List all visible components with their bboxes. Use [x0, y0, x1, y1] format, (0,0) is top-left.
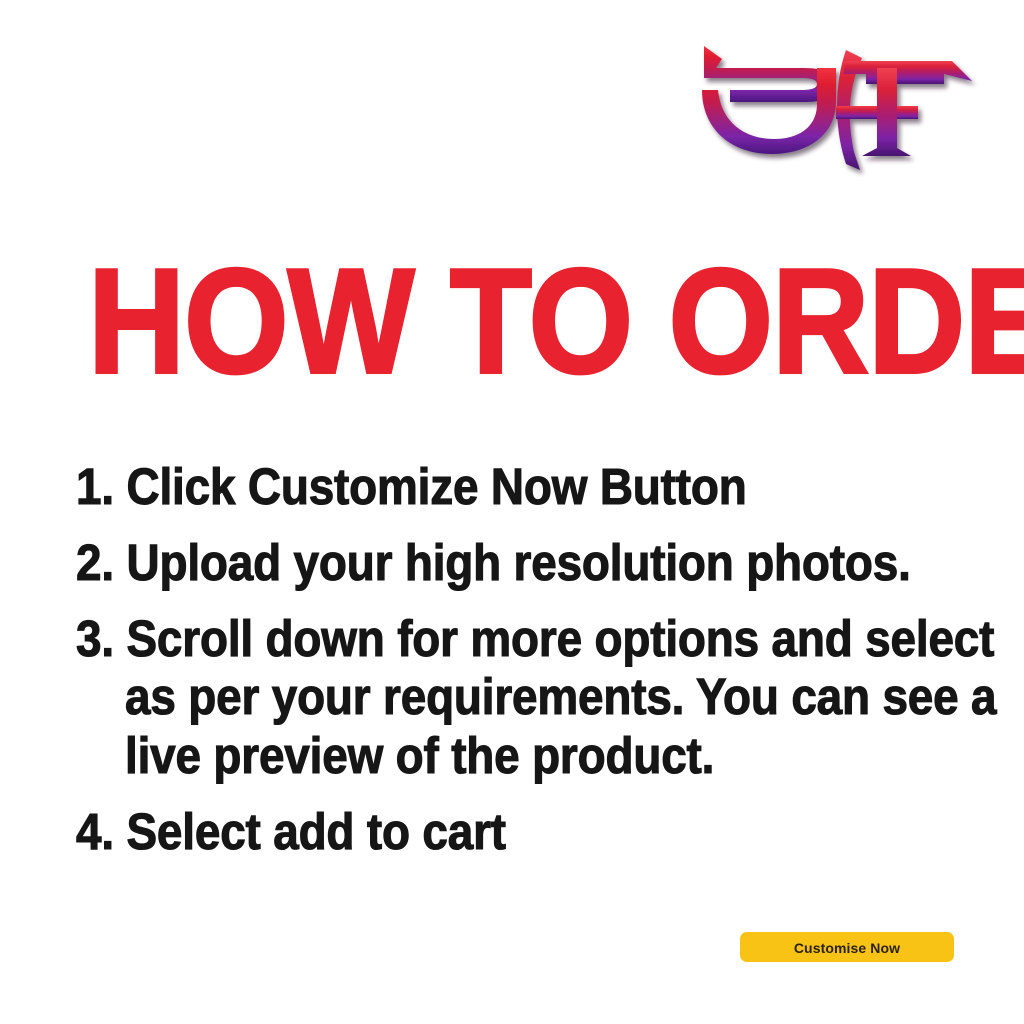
step-2-text: 2. Upload your high resolution photos.	[76, 534, 911, 592]
step-4-line: 4. Select add to cart	[76, 803, 956, 861]
step-2-line: 2. Upload your high resolution photos.	[76, 534, 956, 592]
steps-list: 1. Click Customize Now Button Customise …	[76, 458, 956, 879]
list-item-step-1: 1. Click Customize Now Button Customise …	[76, 458, 956, 516]
list-item-step-2: 2. Upload your high resolution photos.	[76, 534, 956, 592]
list-item-step-3: 3. Scroll down for more options and sele…	[76, 610, 956, 784]
customise-now-button[interactable]: Customise Now	[740, 932, 954, 962]
step-3-line-1: 3. Scroll down for more options and sele…	[76, 610, 956, 668]
page-title: HOW TO ORDER?	[88, 253, 1024, 390]
step-3-line-2: as per your requirements. You can see a	[125, 668, 956, 726]
step-3-text-line-3: live preview of the product.	[125, 727, 714, 785]
sf-monogram-logo	[686, 28, 986, 178]
step-1-text: 1. Click Customize Now Button	[76, 458, 747, 516]
how-to-order-infographic: HOW TO ORDER? 1. Click Customize Now But…	[0, 0, 1024, 1024]
step-3-line-3: live preview of the product.	[125, 727, 956, 785]
step-3-text-line-2: as per your requirements. You can see a	[125, 668, 996, 726]
list-item-step-4: 4. Select add to cart Add to Cart	[76, 803, 956, 861]
step-4-text: 4. Select add to cart	[76, 803, 506, 861]
step-3-text-line-1: 3. Scroll down for more options and sele…	[76, 610, 994, 668]
step-1-line: 1. Click Customize Now Button	[76, 458, 956, 516]
